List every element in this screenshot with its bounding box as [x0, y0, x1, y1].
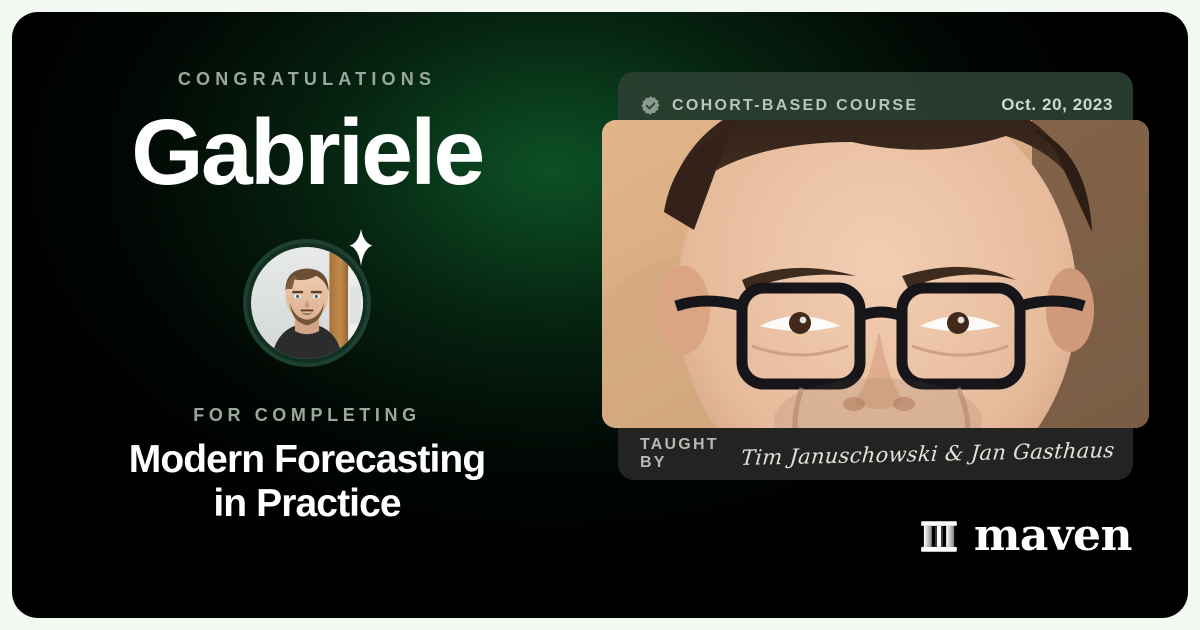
instructor-photo: [602, 120, 1149, 428]
certificate-card: CONGRATULATIONS Gabriele: [12, 12, 1188, 618]
instructors-signature: Tim Januschowski & Jan Gasthaus: [740, 438, 1115, 470]
for-completing-eyebrow: FOR COMPLETING: [193, 405, 420, 426]
course-type-label: COHORT-BASED COURSE: [672, 97, 918, 115]
course-title-line-1: Modern Forecasting: [47, 438, 567, 482]
maven-brand: maven: [918, 514, 1132, 558]
course-info-card: COHORT-BASED COURSE Oct. 20, 2023: [602, 72, 1117, 480]
verified-badge-icon: [640, 95, 661, 116]
avatar: [243, 239, 371, 367]
recipient-name: Gabriele: [131, 106, 482, 199]
course-date: Oct. 20, 2023: [1001, 95, 1113, 115]
course-type-group: COHORT-BASED COURSE: [640, 95, 918, 116]
course-title: Modern Forecasting in Practice: [47, 438, 567, 525]
sparkle-icon: [341, 228, 381, 268]
course-title-line-2: in Practice: [47, 482, 567, 526]
certificate-left-column: CONGRATULATIONS Gabriele: [12, 12, 602, 618]
instructor-portrait-illustration: [602, 120, 1149, 428]
maven-column-icon: [918, 515, 960, 557]
taught-by-bar: TAUGHT BY Tim Januschowski & Jan Gasthau…: [618, 428, 1133, 480]
taught-by-label: TAUGHT BY: [640, 436, 741, 472]
maven-wordmark: maven: [974, 514, 1132, 558]
certificate-stage: CONGRATULATIONS Gabriele: [0, 0, 1200, 630]
congratulations-eyebrow: CONGRATULATIONS: [178, 69, 436, 90]
